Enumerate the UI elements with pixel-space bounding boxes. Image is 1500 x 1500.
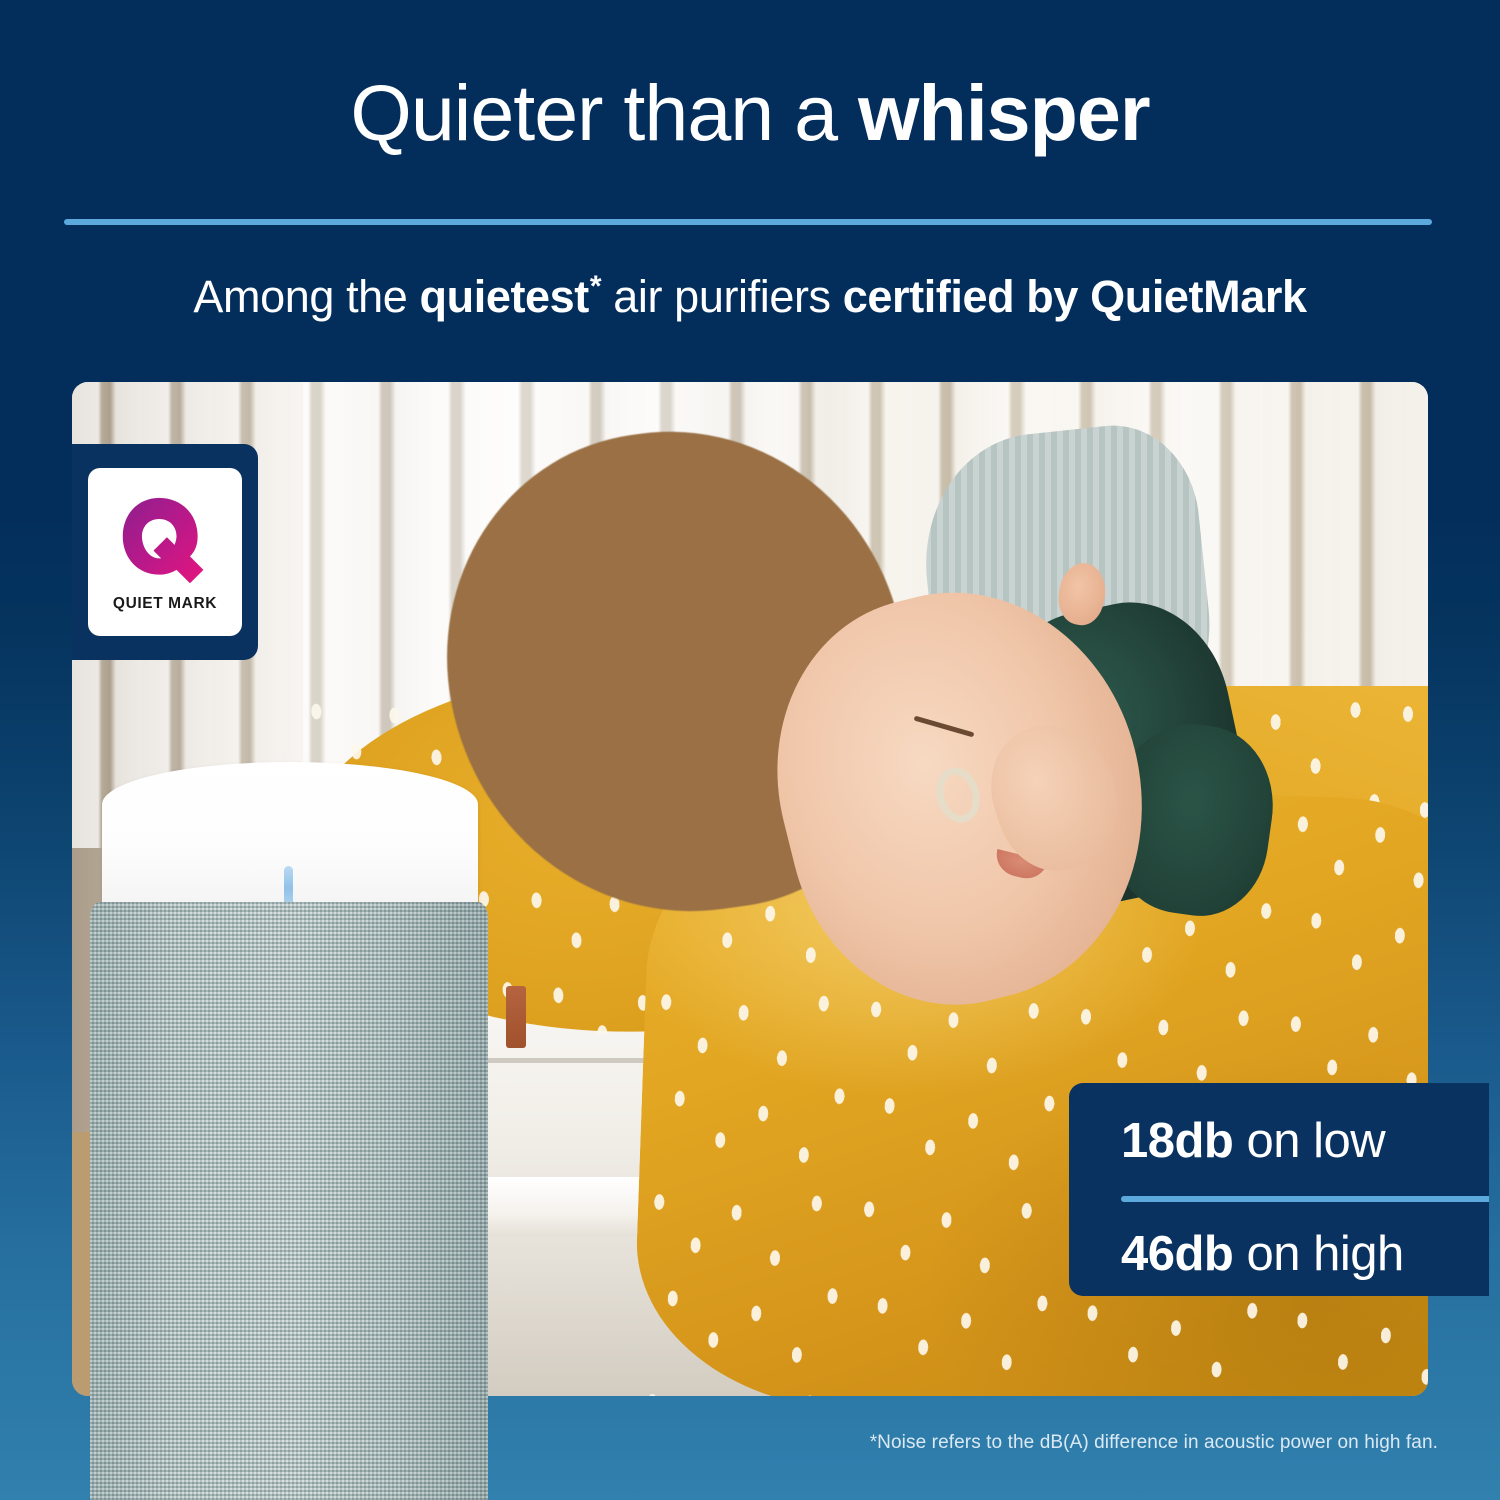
- callout-divider: [1121, 1196, 1489, 1202]
- footnote-asterisk: *: [590, 270, 601, 303]
- marketing-banner: Quieter than a whisper Among the quietes…: [0, 0, 1500, 1500]
- sleeping-child: [425, 402, 1239, 1132]
- noise-level-callout: 18db on low 46db on high: [1069, 1083, 1489, 1296]
- callout-high: 46db on high: [1121, 1230, 1489, 1279]
- callout-high-value: 46db: [1121, 1227, 1233, 1281]
- quiet-mark-badge-panel: QUIET MARK: [72, 444, 258, 660]
- callout-low-label: on low: [1233, 1114, 1385, 1168]
- headline-bold: whisper: [858, 68, 1150, 157]
- purifier-fabric-body: [90, 902, 488, 1500]
- purifier-brand-tab: [506, 986, 526, 1048]
- subhead-bold-quietest: quietest: [420, 271, 589, 322]
- air-purifier-product: [78, 762, 498, 1500]
- subhead-part-2: air purifiers: [601, 271, 843, 322]
- page-title: Quieter than a whisper: [0, 72, 1500, 155]
- callout-low-value: 18db: [1121, 1114, 1233, 1168]
- quiet-mark-q-icon: [117, 494, 213, 590]
- subheading: Among the quietest* air purifiers certif…: [0, 270, 1500, 323]
- quiet-mark-label: QUIET MARK: [113, 595, 217, 613]
- subhead-part-1: Among the: [193, 271, 419, 322]
- subhead-bold-certified: certified by QuietMark: [843, 271, 1307, 322]
- callout-low: 18db on low: [1121, 1117, 1489, 1166]
- quiet-mark-card: QUIET MARK: [88, 468, 242, 636]
- header-divider: [64, 219, 1432, 225]
- callout-high-label: on high: [1233, 1227, 1403, 1281]
- footnote-text: *Noise refers to the dB(A) difference in…: [870, 1432, 1438, 1454]
- headline-regular: Quieter than a: [350, 68, 858, 157]
